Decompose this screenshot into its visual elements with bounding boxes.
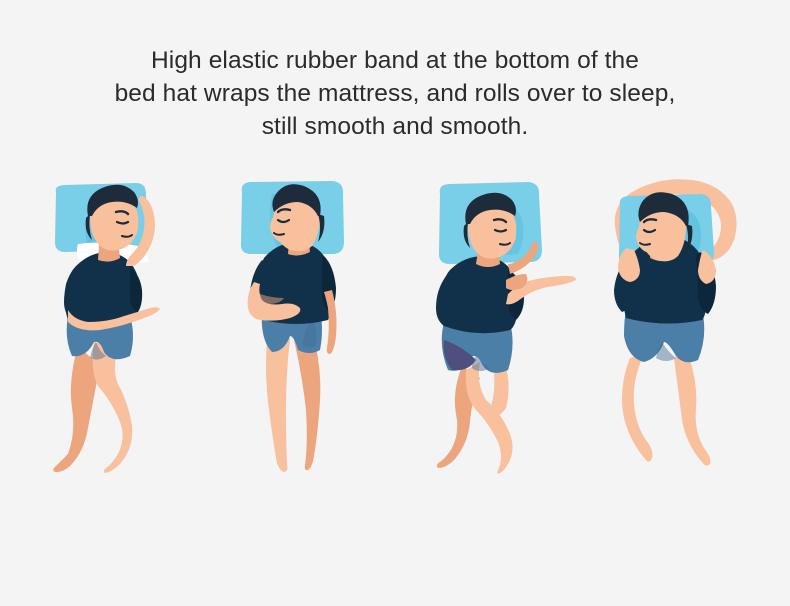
promo-banner: High elastic rubber band at the bottom o… [0, 0, 790, 606]
leg-near [466, 360, 513, 474]
figure-fetal-sleeper-arm-out [418, 170, 583, 480]
sleeping-positions-illustration [0, 170, 790, 500]
page-caption: High elastic rubber band at the bottom o… [0, 44, 790, 143]
leg-near [93, 342, 133, 473]
caption-line-2: bed hat wraps the mattress, and rolls ov… [0, 77, 790, 110]
figure-back-sleeper-arms-overhead [596, 170, 766, 480]
leg-far [622, 354, 652, 462]
caption-line-3: still smooth and smooth. [0, 110, 790, 143]
caption-line-1: High elastic rubber band at the bottom o… [0, 44, 790, 77]
leg-near [674, 354, 710, 466]
figure-side-sleeper-hand-on-hip [228, 170, 378, 480]
figure-side-sleeper-arm-up [38, 170, 198, 480]
leg-near [266, 330, 290, 472]
